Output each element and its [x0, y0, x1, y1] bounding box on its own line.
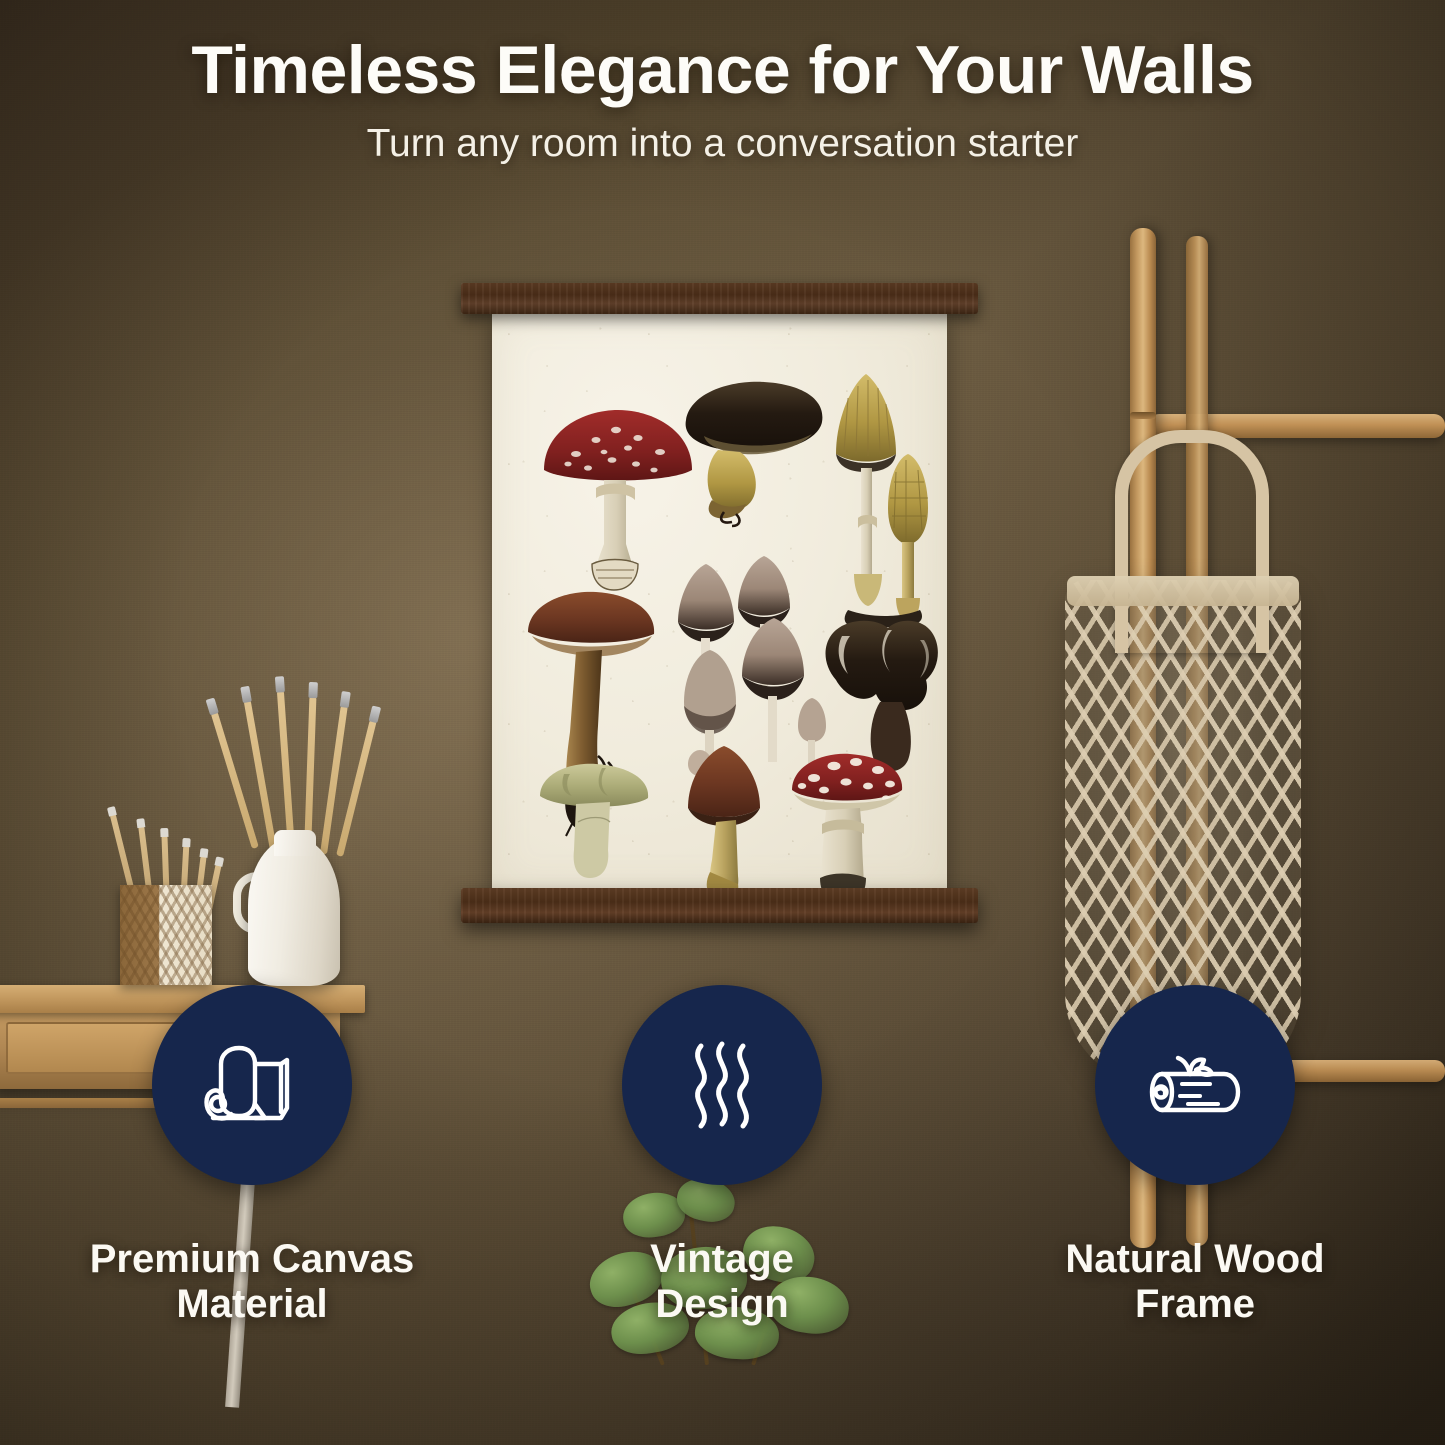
shroom-black-trumpet-dark: [826, 621, 938, 772]
feature-label-line2: Frame: [985, 1282, 1405, 1327]
feature-icon-circle: [152, 985, 352, 1185]
canvas-wall-art-poster[interactable]: [461, 283, 978, 923]
page-subtitle: Turn any room into a conversation starte…: [0, 122, 1445, 166]
shroom-dark-brown-bolete: [686, 382, 823, 526]
wood-log-icon: [1136, 1026, 1254, 1144]
feature-vintage-design[interactable]: Vintage Design: [512, 985, 932, 1327]
pencil-cup: [120, 885, 212, 985]
mushroom-artwork: [492, 312, 947, 892]
tote-strap: [1115, 430, 1269, 653]
tote-rim: [1067, 576, 1299, 606]
feature-badges: Premium Canvas Material Vintage Design: [0, 985, 1445, 1405]
feature-natural-wood-frame[interactable]: Natural Wood Frame: [985, 985, 1405, 1327]
shroom-pale-green-russula: [540, 764, 648, 878]
shroom-amanita-muscaria-red: [792, 754, 902, 892]
header: Timeless Elegance for Your Walls Turn an…: [0, 34, 1445, 166]
feature-icon-circle: [1095, 985, 1295, 1185]
poster-canvas: [492, 312, 947, 892]
ceramic-vase: [248, 838, 340, 986]
promo-image-stage: Timeless Elegance for Your Walls Turn an…: [0, 0, 1445, 1445]
shroom-ink-cap-cluster: [678, 556, 826, 786]
shroom-fly-agaric-red-cap: [544, 410, 692, 590]
vase-neck: [274, 830, 316, 856]
wavy-lines-icon: [663, 1026, 781, 1144]
feature-icon-circle: [622, 985, 822, 1185]
feature-label-line1: Vintage: [512, 1237, 932, 1282]
feature-label-line1: Natural Wood: [985, 1237, 1405, 1282]
feature-label: Natural Wood Frame: [985, 1237, 1405, 1327]
canvas-roll-icon: [193, 1026, 311, 1144]
shroom-shaggy-ink-cap: [836, 374, 928, 638]
page-title: Timeless Elegance for Your Walls: [0, 34, 1445, 106]
wood-rail-top: [461, 283, 978, 314]
feature-label: Premium Canvas Material: [42, 1237, 462, 1327]
feature-label-line2: Design: [512, 1282, 932, 1327]
feature-label-line1: Premium Canvas: [42, 1237, 462, 1282]
feature-label: Vintage Design: [512, 1237, 932, 1327]
wood-rail-bottom: [461, 888, 978, 923]
feature-label-line2: Material: [42, 1282, 462, 1327]
feature-premium-canvas[interactable]: Premium Canvas Material: [42, 985, 462, 1327]
